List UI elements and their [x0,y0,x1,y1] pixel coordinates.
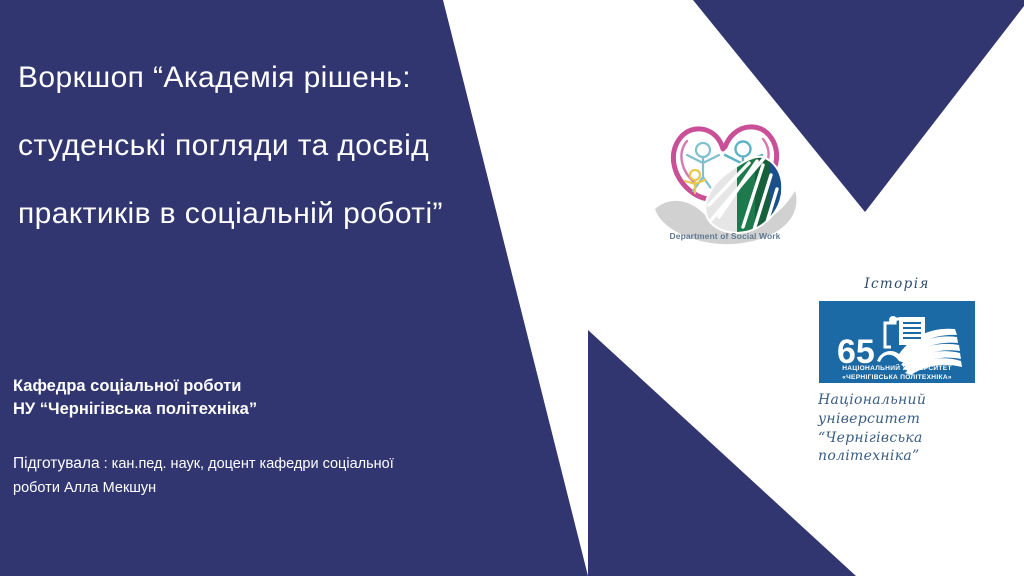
author-credit: Підготувала : кан.пед. наук, доцент кафе… [13,452,543,500]
slide-title: Воркшоп “Академія рішень: студенські пог… [18,62,518,229]
figure-head-left [696,143,710,157]
university-badge: 65 НАЦІОНАЛЬНИЙ УНІВЕРСИТЕТ «ЧЕРНІГІВСЬК… [819,301,975,383]
university-name-line-3: “Чернігівська [818,429,982,448]
author-line-2: роботи Алла Мекшун [13,477,543,500]
author-line-1: Підготувала : кан.пед. наук, доцент кафе… [13,452,543,477]
department-affiliation: Кафедра соціальної роботи НУ “Чернігівсь… [13,375,533,421]
department-line-2: НУ “Чернігівська політехніка” [13,398,533,421]
university-name-line-1: Національний [818,391,982,410]
university-name: Національний університет “Чернігівська п… [812,391,982,466]
title-line-2: студенські погляди та досвід [18,130,518,162]
department-line-1: Кафедра соціальної роботи [13,375,533,398]
chernihiv-polytechnic-logo-icon: Історія [812,276,982,466]
heart-inner-stroke-left [681,141,695,183]
university-name-line-2: університет [818,410,982,429]
badge-text-line-1: НАЦІОНАЛЬНИЙ УНІВЕРСИТЕТ [842,363,952,372]
badge-text-line-2: «ЧЕРНІГІВСЬКА ПОЛІТЕХНІКА» [842,374,952,381]
author-details: : кан.пед. наук, доцент кафедри соціальн… [100,456,394,472]
title-slide: Воркшоп “Академія рішень: студенські пог… [0,0,1024,576]
dsw-logo-caption: Department of Social Work [645,231,805,241]
author-label: Підготувала [13,455,100,472]
university-name-line-4: політехніка” [818,447,982,466]
figure-head-right [736,142,751,157]
title-line-1: Воркшоп “Академія рішень: [18,62,518,94]
figure-head-child [690,170,700,180]
title-line-3: практиків в соціальній роботі” [18,198,518,230]
history-label: Історія [812,276,982,292]
